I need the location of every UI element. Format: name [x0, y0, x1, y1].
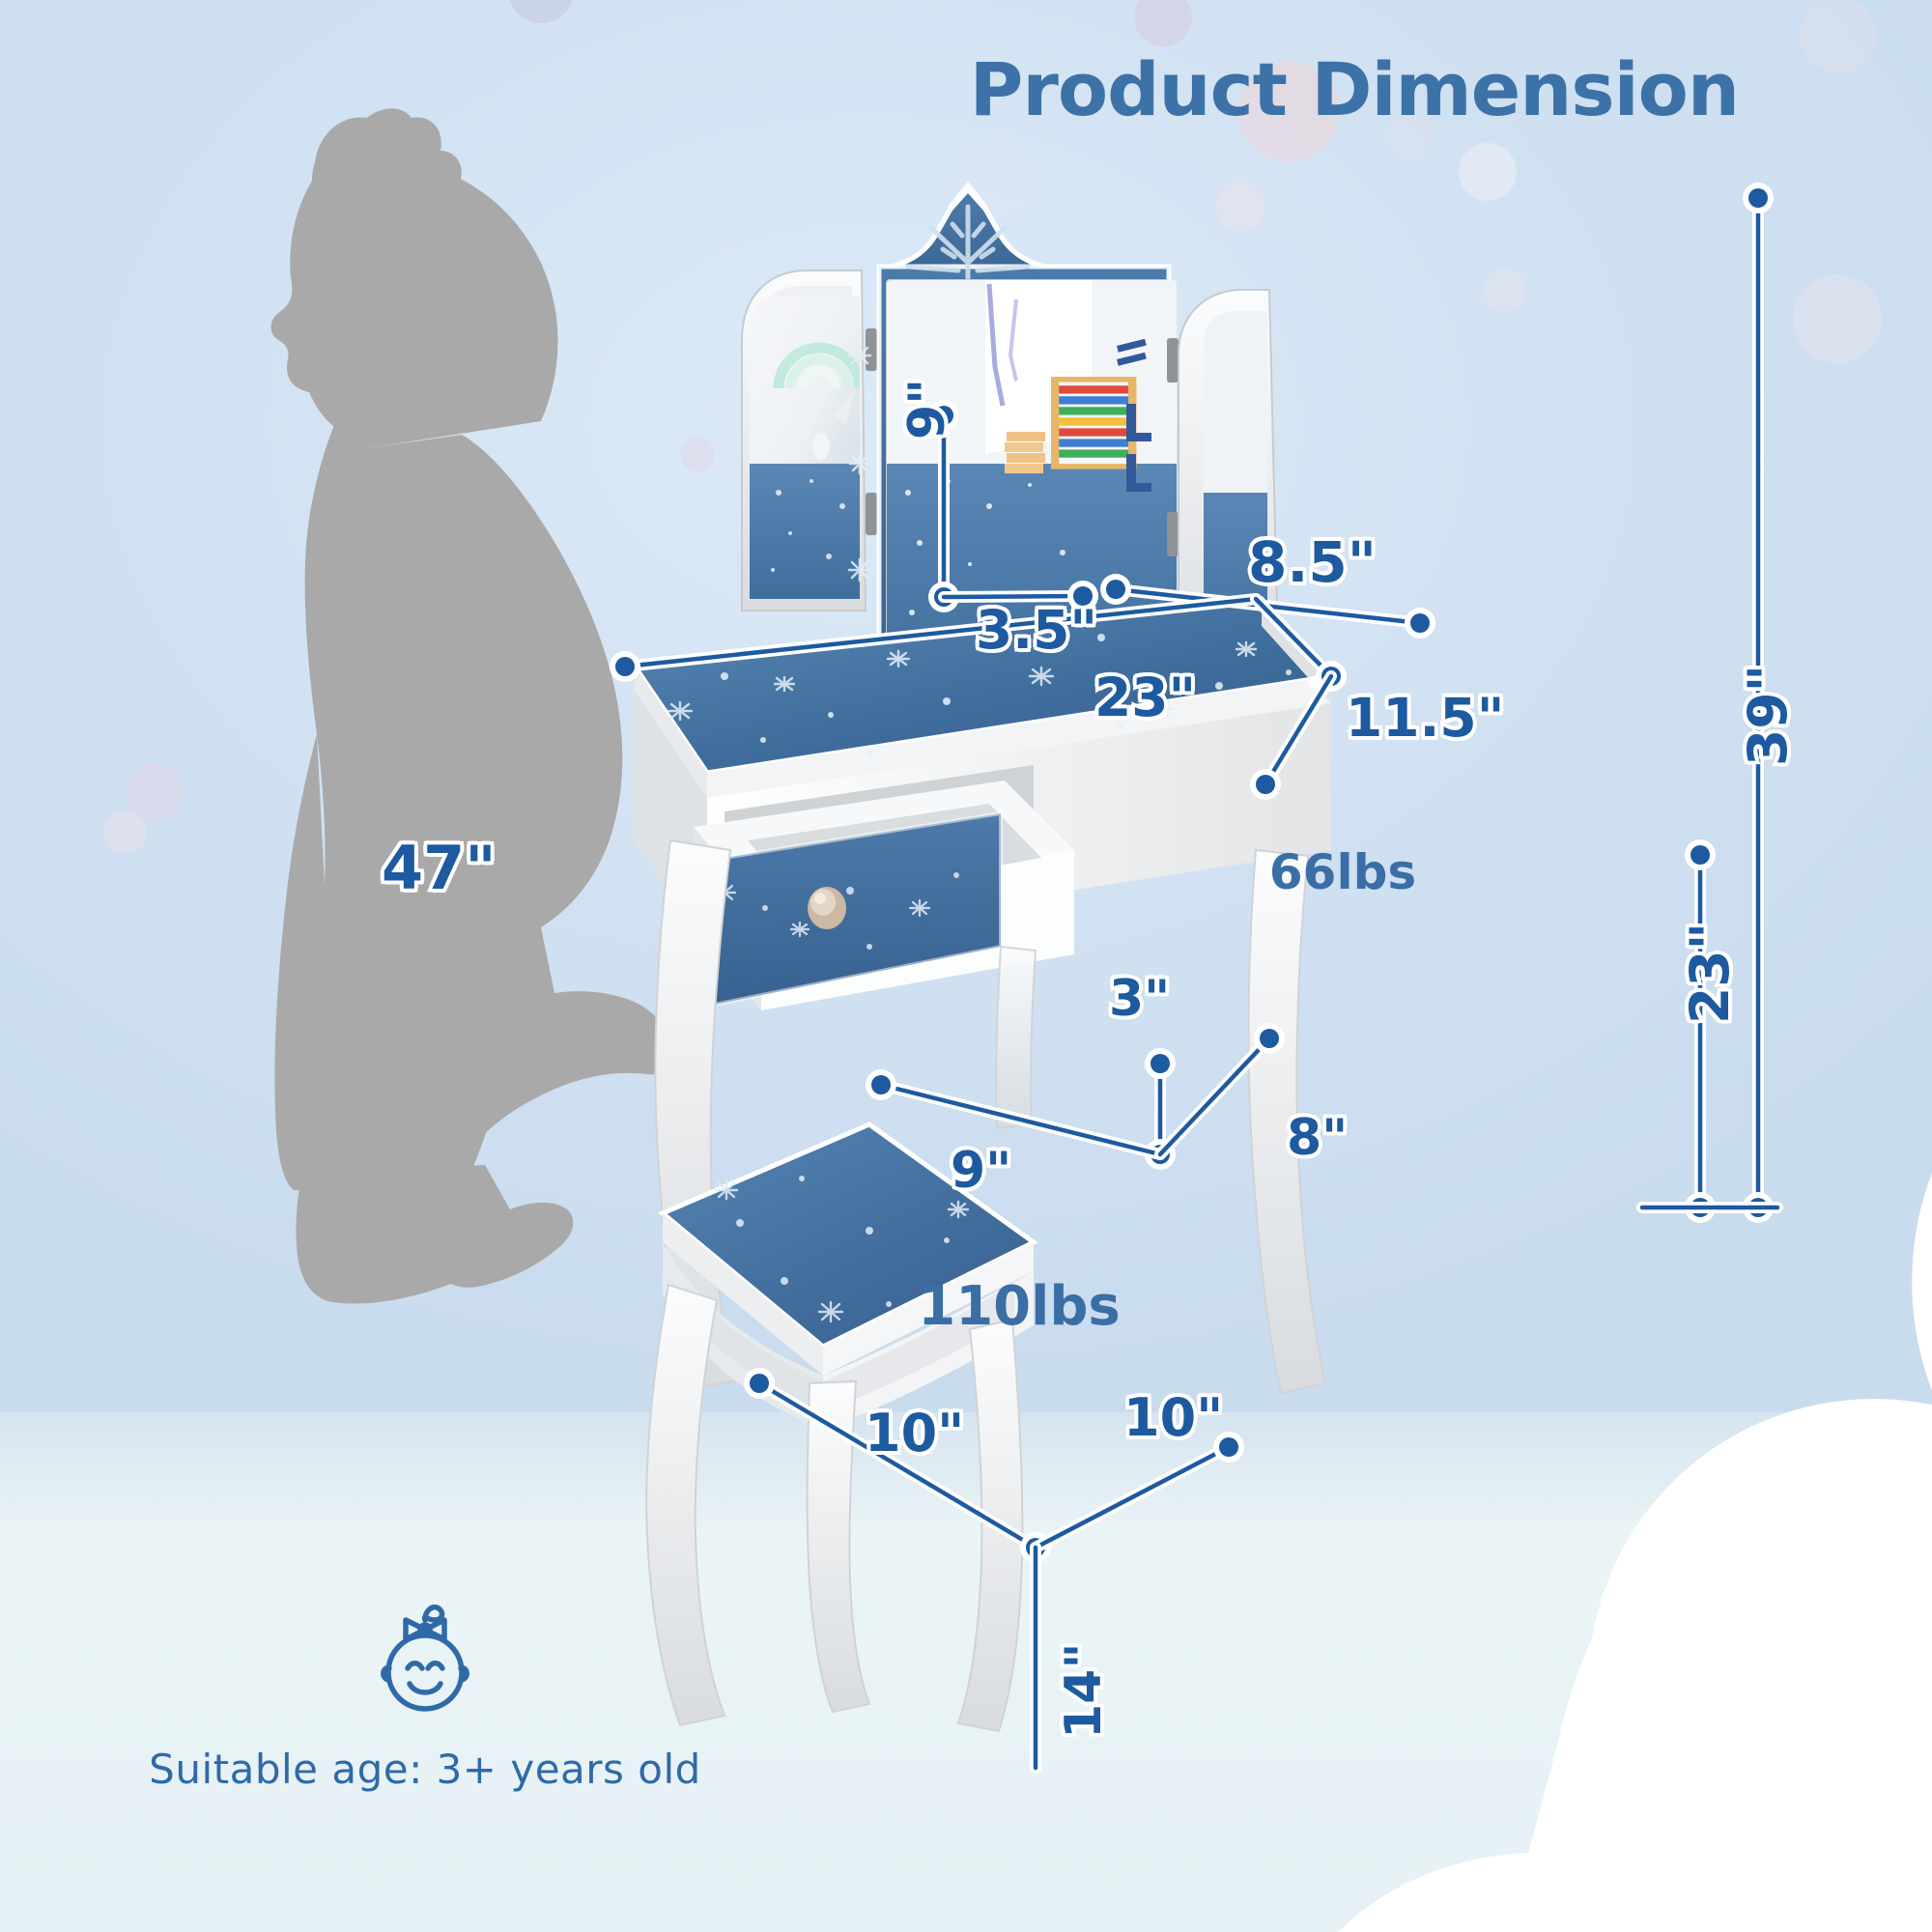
dim-label-tabletop-width: 23": [1094, 667, 1196, 728]
dim-label-child-height: 47": [382, 833, 497, 903]
suitable-age-text: Suitable age: 3+ years old: [116, 1746, 734, 1793]
weight-badge-table-label: 66lbs: [1251, 844, 1435, 900]
dim-label-tabletop-depth: 11.5": [1346, 687, 1504, 749]
dim-label-total-height: 39": [1737, 665, 1799, 766]
dim-line-drawer-width: [866, 1069, 1160, 1154]
dim-label-mirror-wing-width: 3.5": [976, 599, 1097, 661]
weight-badge-stool: 110lbs: [908, 1180, 1130, 1364]
weight-badge-stool-label: 110lbs: [908, 1275, 1130, 1338]
dim-label-center-mirror-width: 8.5": [1248, 529, 1377, 595]
baby-face-icon: [367, 1599, 483, 1724]
dim-label-drawer-height: 3": [1109, 970, 1170, 1028]
suitable-age-block: Suitable age: 3+ years old: [116, 1599, 734, 1793]
dim-label-mirror-wing-height: 9": [898, 379, 956, 440]
weight-badge-table: 66lbs: [1251, 763, 1435, 918]
